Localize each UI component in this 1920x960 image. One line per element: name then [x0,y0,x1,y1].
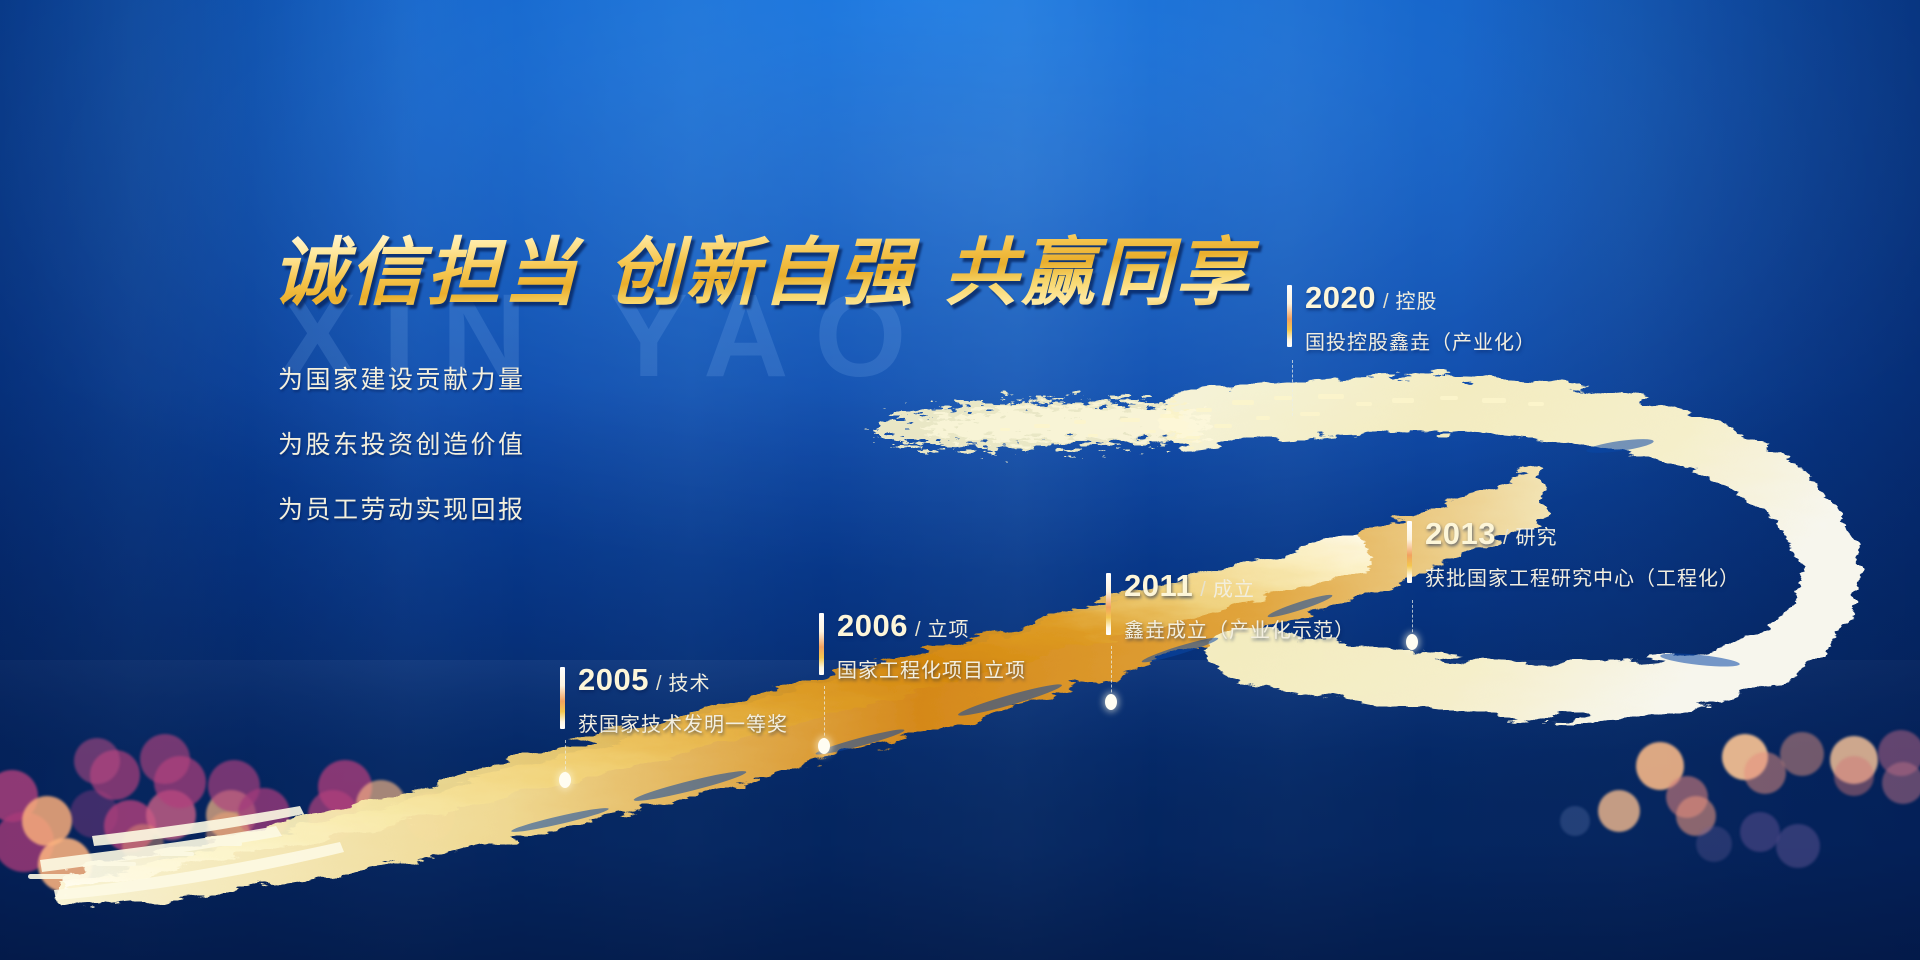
milestone-heading: 2011 / 成立 [1124,570,1355,601]
milestone-separator: / [1503,528,1509,548]
milestone-heading: 2013 / 研究 [1425,518,1740,549]
bokeh-circle [1882,762,1920,804]
accent-bar-icon [1407,521,1412,583]
milestone-category: 技术 [669,674,711,694]
banner-canvas: XIN YAO 诚信担当创新自强共赢同享 为国家建设贡献力量 为股东投资创造价值… [0,0,1920,960]
milestone-description: 鑫垚成立（产业化示范） [1124,614,1355,643]
milestone-separator: / [915,620,921,640]
bokeh-circle [140,734,190,784]
tagline-item: 为员工劳动实现回报 [278,490,526,526]
timeline-dot-2013 [1406,634,1418,650]
headline-block: XIN YAO 诚信担当创新自强共赢同享 [272,232,1272,315]
headline-part-1: 诚信担当 [272,231,580,314]
milestone-separator: / [1200,580,1206,600]
bokeh-circle [122,824,164,866]
milestone-heading: 2005 / 技术 [578,664,788,695]
milestone-description: 国家工程化项目立项 [837,654,1026,683]
milestone-category: 研究 [1516,528,1558,548]
accent-bar-icon [1106,573,1111,635]
bokeh-circle [1834,756,1874,796]
milestone-2020[interactable]: 2020 / 控股 国投控股鑫垚（产业化） [1287,282,1536,355]
timeline-dot-2011 [1105,694,1117,710]
milestone-year: 2006 [837,610,908,641]
tagline-item: 为股东投资创造价值 [278,425,526,461]
milestone-category: 立项 [928,620,970,640]
milestone-2005[interactable]: 2005 / 技术 获国家技术发明一等奖 [560,664,788,737]
accent-bar-icon [560,667,565,729]
bokeh-circle [1780,732,1824,776]
bokeh-circle [356,780,406,830]
bokeh-circle [1598,790,1640,832]
tagline-item: 为国家建设贡献力量 [278,360,526,396]
bokeh-circle [1776,824,1820,868]
milestone-year: 2011 [1124,570,1193,601]
bokeh-circle [308,790,358,840]
connector-line-2006 [824,686,825,746]
bokeh-circle [206,812,250,856]
accent-bar-icon [819,613,824,675]
milestone-description: 国投控股鑫垚（产业化） [1305,326,1536,355]
milestone-year: 2020 [1305,282,1376,313]
bokeh-circle [1740,812,1780,852]
milestone-content: 2005 / 技术 获国家技术发明一等奖 [560,664,788,737]
milestone-content: 2013 / 研究 获批国家工程研究中心（工程化） [1407,518,1740,591]
milestone-heading: 2020 / 控股 [1305,282,1536,313]
milestone-heading: 2006 / 立项 [837,610,1026,641]
bokeh-circle [406,792,454,840]
milestone-category: 控股 [1396,292,1438,312]
bokeh-circle [1560,806,1590,836]
bokeh-circle [1696,826,1732,862]
timeline-dot-2006 [818,738,830,754]
milestone-content: 2011 / 成立 鑫垚成立（产业化示范） [1106,570,1355,643]
milestone-content: 2006 / 立项 国家工程化项目立项 [819,610,1026,683]
connector-line-2020 [1292,360,1293,416]
milestone-separator: / [1383,292,1389,312]
milestone-2011[interactable]: 2011 / 成立 鑫垚成立（产业化示范） [1106,570,1355,643]
milestone-separator: / [656,674,662,694]
bokeh-circle [74,738,120,784]
milestone-description: 获国家技术发明一等奖 [578,708,788,737]
accent-bar-icon [1287,285,1292,347]
headline-part-3: 共赢同享 [944,231,1252,314]
timeline-dot-2005 [559,772,571,788]
page-title: 诚信担当创新自强共赢同享 [272,232,1272,315]
milestone-2006[interactable]: 2006 / 立项 国家工程化项目立项 [819,610,1026,683]
milestone-category: 成立 [1213,580,1255,600]
milestone-content: 2020 / 控股 国投控股鑫垚（产业化） [1287,282,1536,355]
milestone-2013[interactable]: 2013 / 研究 获批国家工程研究中心（工程化） [1407,518,1740,591]
tagline-list: 为国家建设贡献力量 为股东投资创造价值 为员工劳动实现回报 [278,360,526,555]
milestone-year: 2005 [578,664,649,695]
headline-part-2: 创新自强 [608,231,916,314]
milestone-year: 2013 [1425,518,1496,549]
milestone-description: 获批国家工程研究中心（工程化） [1425,562,1740,591]
bokeh-circle [38,838,92,892]
